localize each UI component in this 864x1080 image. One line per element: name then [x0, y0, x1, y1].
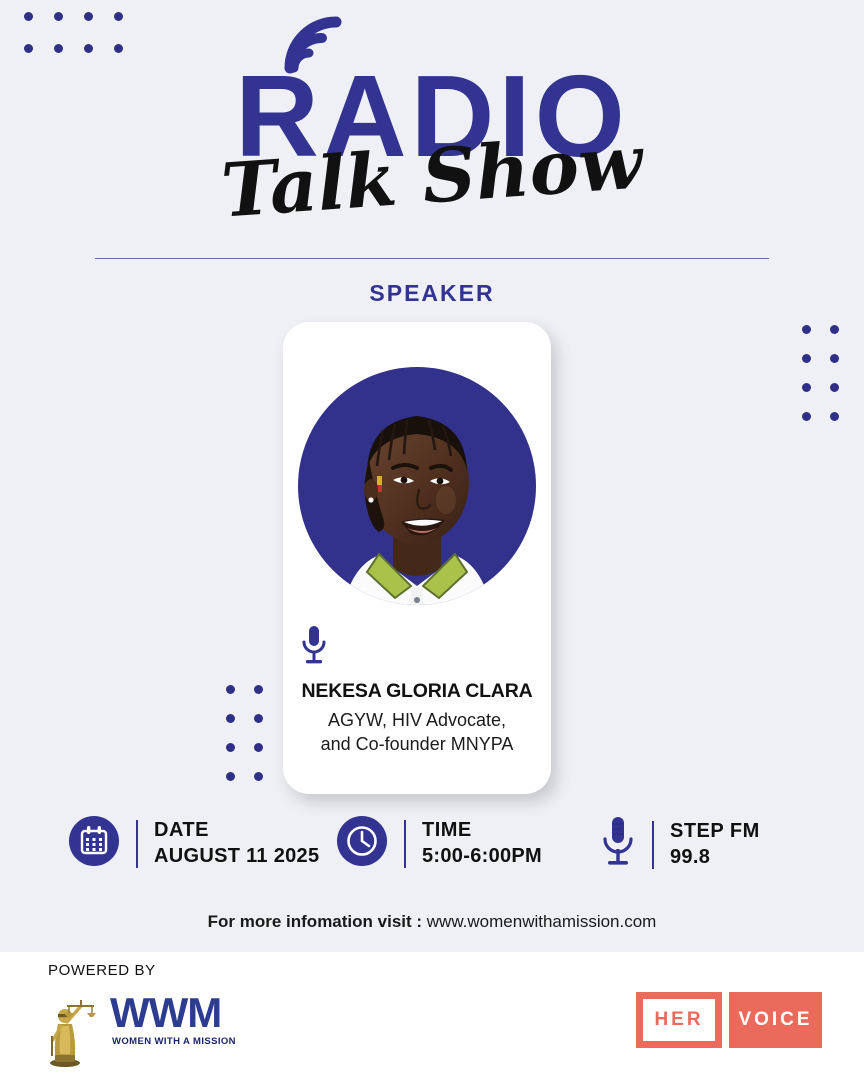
dot: [830, 412, 839, 421]
event-info-bar: DATE AUGUST 11 2025 TIME 5:00-6:00PM: [0, 815, 864, 897]
her-voice-her-word: HER: [636, 992, 722, 1048]
info-separator: [136, 820, 138, 868]
info-separator: [652, 821, 654, 869]
dot: [226, 772, 235, 781]
info-value-time: 5:00-6:00PM: [422, 844, 542, 870]
info-block-date: DATE AUGUST 11 2025: [68, 815, 319, 872]
dot: [226, 714, 235, 723]
dot: [254, 772, 263, 781]
poster-header: RADIO Talk Show: [0, 0, 864, 260]
poster-canvas: RADIO Talk Show SPEAKER: [0, 0, 864, 1080]
info-block-time: TIME 5:00-6:00PM: [336, 815, 542, 872]
dot: [802, 412, 811, 421]
lady-justice-icon: [34, 990, 96, 1073]
speaker-portrait-illustration: POWER: [283, 342, 551, 632]
microphone-icon: [299, 624, 329, 673]
dot: [254, 743, 263, 752]
decorative-dots-right: [802, 325, 858, 441]
decorative-dots-left-middle: [226, 685, 282, 801]
dot: [802, 354, 811, 363]
her-voice-voice-word: VOICE: [729, 992, 822, 1048]
powered-by-label: POWERED BY: [48, 962, 156, 979]
speaker-card: POWER: [283, 322, 551, 794]
dot: [830, 325, 839, 334]
info-value-station: 99.8: [670, 845, 760, 871]
wwm-logo-letters: WWM: [110, 992, 221, 1034]
calendar-icon: [68, 815, 120, 872]
more-info-url[interactable]: www.womenwithamission.com: [427, 912, 657, 931]
info-separator: [404, 820, 406, 868]
speaker-photo: POWER: [283, 342, 551, 632]
dot: [830, 354, 839, 363]
svg-text:POWER: POWER: [359, 601, 392, 610]
dot: [226, 685, 235, 694]
dot: [254, 685, 263, 694]
header-divider: [95, 258, 769, 259]
info-label-date: DATE: [154, 818, 319, 844]
speaker-name: NEKESA GLORIA CLARA: [283, 680, 551, 703]
dot: [830, 383, 839, 392]
info-label-time: TIME: [422, 818, 542, 844]
speaker-section-label: SPEAKER: [0, 280, 864, 307]
info-block-station: STEP FM 99.8: [600, 815, 760, 874]
speaker-role: AGYW, HIV Advocate, and Co-founder MNYPA: [283, 708, 551, 757]
clock-icon: [336, 815, 388, 872]
more-info-prefix: For more infomation visit :: [208, 912, 422, 931]
speaker-role-line-2: and Co-founder MNYPA: [283, 732, 551, 756]
dot: [802, 383, 811, 392]
info-value-date: AUGUST 11 2025: [154, 844, 319, 870]
info-label-station: STEP FM: [670, 819, 760, 845]
speaker-role-line-1: AGYW, HIV Advocate,: [283, 708, 551, 732]
dot: [802, 325, 811, 334]
her-voice-logo: HER VOICE: [636, 992, 822, 1048]
dot: [254, 714, 263, 723]
wwm-logo-tagline: WOMEN WITH A MISSION: [112, 1036, 236, 1047]
microphone-icon: [600, 815, 636, 874]
dot: [226, 743, 235, 752]
more-info-line: For more infomation visit : www.womenwit…: [0, 912, 864, 932]
